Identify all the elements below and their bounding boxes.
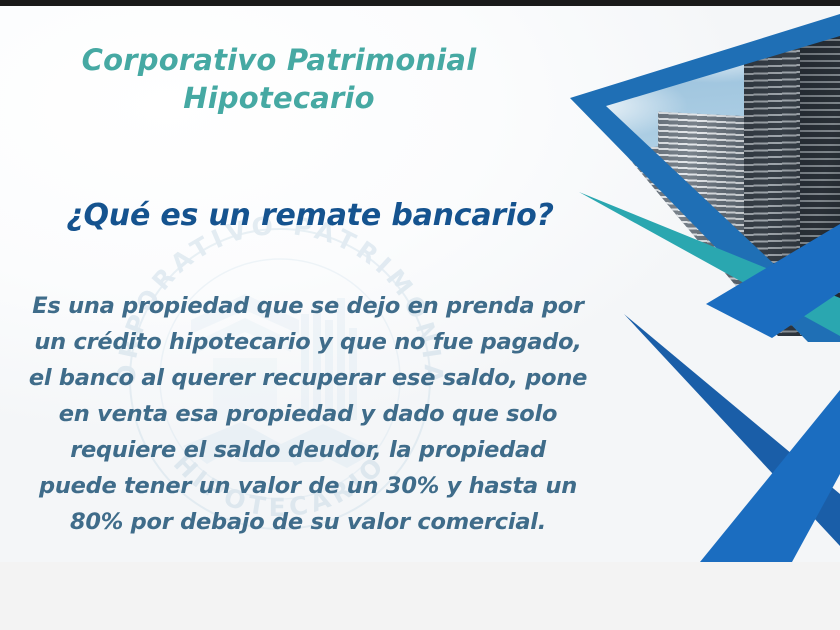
brand-title-line1: Corporativo Patrimonial [82, 43, 477, 77]
body-line-4: en venta esa propiedad y dado que solo [8, 396, 608, 432]
promotional-poster: CORPORATIVO PATRIMONIAL HIPOTECARIO [0, 6, 840, 562]
body-line-3: el banco al querer recuperar ese saldo, … [8, 360, 608, 396]
body-line-2: un crédito hipotecario y que no fue paga… [8, 324, 608, 360]
headline-question: ¿Qué es un remate bancario? [30, 198, 590, 233]
screenshot-root: CORPORATIVO PATRIMONIAL HIPOTECARIO [0, 0, 840, 630]
body-line-1: Es una propiedad que se dejo en prenda p… [8, 288, 608, 324]
brand-title: Corporativo Patrimonial Hipotecario [44, 42, 514, 117]
photo-tower-3 [744, 43, 806, 336]
letterbox-bottom-bar [0, 562, 840, 630]
body-line-5: requiere el saldo deudor, la propiedad [8, 432, 608, 468]
body-paragraph: Es una propiedad que se dejo en prenda p… [8, 288, 608, 540]
body-line-7: 80% por debajo de su valor comercial. [8, 504, 608, 540]
photo-tower-4 [800, 18, 840, 336]
brand-title-line2: Hipotecario [44, 80, 514, 118]
body-line-6: puede tener un valor de un 30% y hasta u… [8, 468, 608, 504]
